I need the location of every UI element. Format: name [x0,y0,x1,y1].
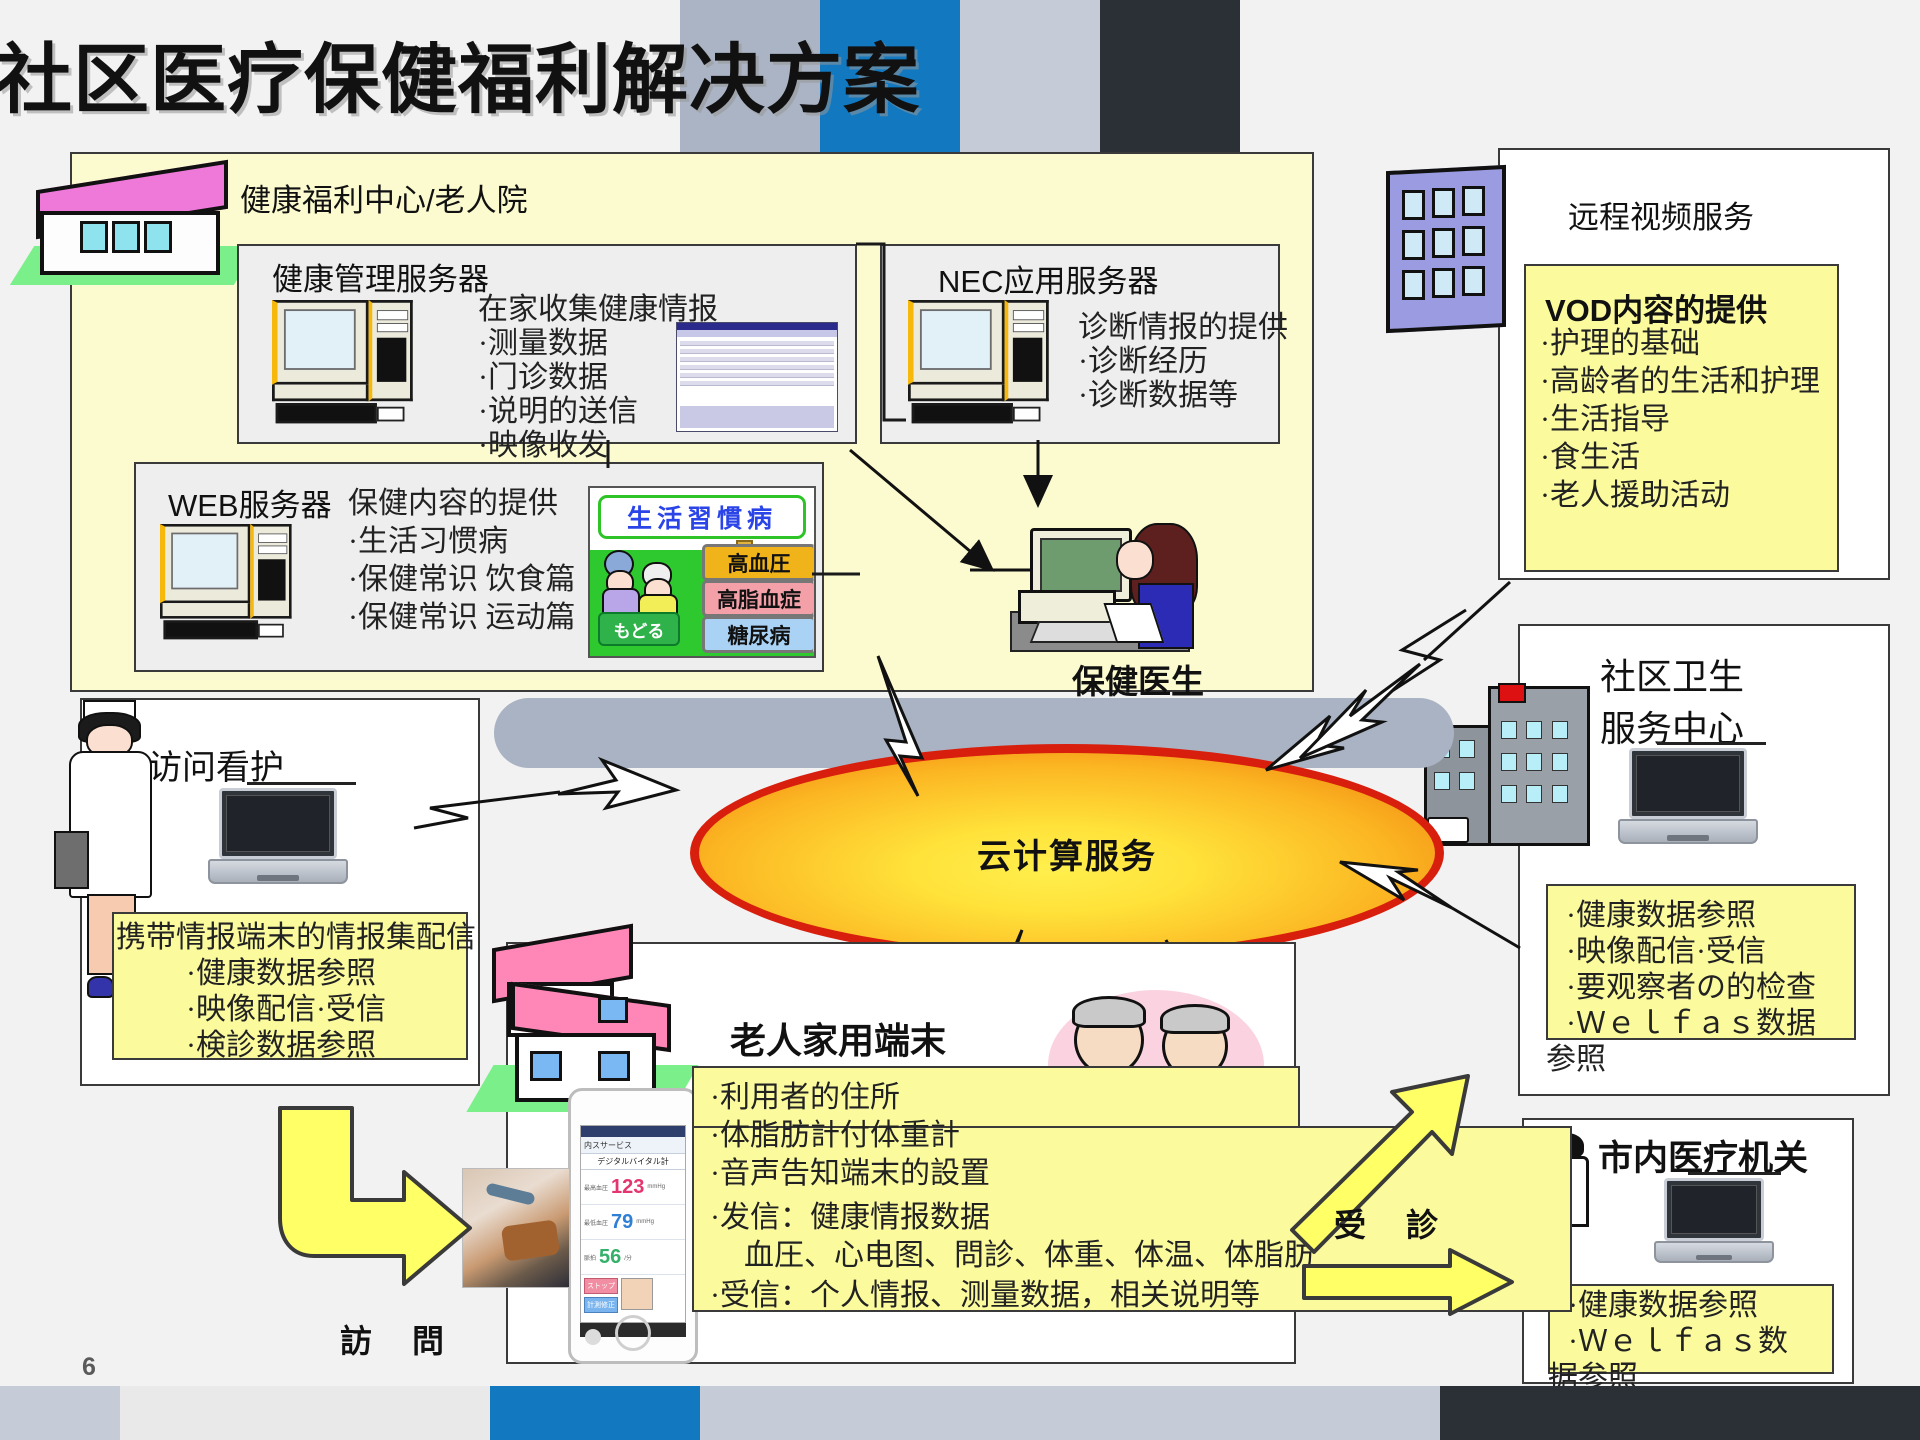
lifestyle-sign-1[interactable]: 高血圧 [702,544,816,581]
city-hospital-note-2: ·Ｗｅｌｆａｓ数 [1568,1324,1788,1361]
remote-video-title: 远程视频服务 [1568,192,1754,237]
lifestyle-caption: 生活習慣病 [598,495,806,539]
web-server-computer-icon [160,524,298,644]
community-note-2: ·映像配信·受信 [1566,934,1766,971]
visit-label: 訪 問 [340,1316,448,1362]
community-center-title-1: 社区卫生 [1600,648,1744,700]
vod-bullet-5: ·老人援助活动 [1540,478,1730,515]
device-reading-unit-1: mmHg [647,1184,665,1190]
community-hospital-icon [1424,686,1584,846]
vod-bullet-2: ·高龄者的生活和护理 [1540,364,1820,401]
health-server-bullet-1: ·测量数据 [478,326,608,363]
connector-health-to-web [600,440,620,470]
device-reading-row-2: 最低血圧 79 mmHg [581,1205,685,1240]
community-note-1: ·健康数据参照 [1566,898,1756,935]
nec-server-computer-icon [908,300,1055,429]
lifestyle-disease-screen[interactable]: 生活習慣病 高血圧 高脂血症 糖尿病 もどる [588,486,816,658]
cloud-label: 云计算服务 [977,829,1157,878]
device-menu-label[interactable]: デジタルバイタル計 [581,1154,685,1170]
home-terminal-device[interactable]: 内スサービス デジタルバイタル計 最高血圧 123 mmHg 最低血圧 79 m… [568,1088,698,1364]
bottom-bar-2 [120,1386,490,1440]
lifestyle-back-button[interactable]: もどる [598,612,680,646]
city-hospital-laptop-icon [1654,1178,1774,1270]
top-bar-dark [1100,0,1240,160]
page-number: 6 [82,1353,96,1382]
vod-bullet-1: ·护理的基础 [1540,326,1700,363]
visiting-nurse-bullet-2: ·映像配信·受信 [186,992,386,1029]
device-home-button[interactable] [615,1315,651,1351]
lifestyle-sign-3[interactable]: 糖尿病 [702,616,816,653]
health-server-bullet-3: ·说明的送信 [478,394,638,431]
vod-note-title: VOD内容的提供 [1545,285,1767,330]
health-server-bullet-2: ·门诊数据 [478,360,608,397]
device-status-bar [581,1126,685,1137]
vod-bullet-4: ·食生活 [1540,440,1640,477]
device-stop-button[interactable]: ストップ [584,1278,618,1294]
bottom-bar-1 [0,1386,120,1440]
device-speaker-icon [585,1329,601,1345]
device-reading-row-3: 脈拍 56 /分 [581,1240,685,1275]
device-correct-button[interactable]: 計測修正 [584,1297,618,1313]
web-server-bullet-2: ·保健常识 饮食篇 [348,562,576,599]
bottom-bar-4 [700,1386,1440,1440]
nec-server-title: NEC应用服务器 [938,256,1158,301]
device-reading-value-3: 56 [599,1246,621,1269]
web-server-lead: 保健内容的提供 [348,486,558,523]
page-title: 社区医疗保健福利解决方案 [0,18,920,128]
community-note-5: 参照 [1546,1042,1606,1079]
device-reading-label-2: 最低血圧 [584,1218,608,1227]
web-server-bullet-1: ·生活习惯病 [348,524,508,561]
remote-video-building-icon [1386,168,1506,330]
device-reading-value-1: 123 [611,1176,644,1199]
nec-server-lead: 诊断情报的提供 [1078,310,1288,347]
device-reading-unit-3: /分 [624,1253,632,1262]
consult-label: 受 診 [1334,1200,1442,1246]
lifestyle-sign-2[interactable]: 高脂血症 [702,580,816,617]
device-reading-label-3: 脈拍 [584,1253,596,1262]
visit-arrow [252,1100,512,1300]
home-terminal-receive-label: ·受信：个人情报、测量数据，相关说明等 [710,1278,1260,1315]
slide-root: 社区医疗保健福利解决方案 健康福利中心/老人院 健康管理服务器 在家收集健康情报… [0,0,1920,1440]
device-reading-value-2: 79 [611,1211,633,1234]
community-center-laptop-icon [1618,748,1758,852]
home-terminal-title: 老人家用端末 [730,1012,946,1064]
welfare-center-title: 健康福利中心/老人院 [240,175,528,220]
bottom-bar-3 [490,1386,700,1440]
device-user-photo [621,1278,653,1310]
city-hospital-note-1: ·健康数据参照 [1568,1288,1758,1325]
home-terminal-send-label: ·发信：健康情报数据 [710,1200,990,1237]
top-bar-light [960,0,1100,160]
top-bar-white [1240,0,1920,160]
visiting-nurse-bullet-1: ·健康数据参照 [186,956,376,993]
cloud-computing-service: 云计算服务 [690,744,1444,962]
community-note-4: ·Ｗｅｌｆａｓ数据 [1566,1006,1816,1043]
device-reading-unit-2: mmHg [636,1219,654,1225]
vod-bullet-3: ·生活指导 [1540,402,1670,439]
arrow-nec-to-doctor [1024,450,1064,520]
health-server-title: 健康管理服务器 [272,254,489,299]
home-terminal-send-detail: 血圧、心电图、問診、体重、体温、体脂肪 [744,1238,1314,1275]
visiting-nurse-laptop-icon [208,788,348,892]
consult-arrow-right [1300,1250,1530,1330]
health-doctor-icon [1010,520,1210,660]
web-server-bullet-3: ·保健常识 运动篇 [348,600,576,637]
health-server-bullet-4: ·映像收发 [478,428,608,465]
visiting-nurse-note-title: 携带情报端末的情报集配信 [116,920,476,957]
device-button-row: ストップ 計測修正 [581,1275,685,1316]
device-reading-label-1: 最高血圧 [584,1183,608,1192]
health-server-screenshot-thumbnail [676,322,838,432]
home-terminal-bullet-2: ·体脂肪計付体重計 [710,1118,960,1155]
welfare-building-icon [28,170,228,285]
home-terminal-bullet-3: ·音声告知端末的設置 [710,1156,990,1193]
home-terminal-bullet-1: ·利用者的住所 [710,1080,900,1117]
device-service-label: 内スサービス [581,1137,685,1154]
nec-server-bullet-2: ·诊断数据等 [1078,378,1238,415]
bottom-bar-5 [1440,1386,1920,1440]
health-server-computer-icon [272,300,419,429]
community-note-3: ·要观察者の的检查 [1566,970,1816,1007]
visiting-nurse-bullet-3: ·検診数据参照 [186,1028,376,1065]
web-server-title: WEB服务器 [168,480,332,525]
connector-health-to-nec [850,240,910,460]
nec-server-bullet-1: ·诊断经历 [1078,344,1208,381]
home-house-icon [488,932,678,1112]
device-reading-row-1: 最高血圧 123 mmHg [581,1170,685,1205]
health-doctor-label: 保健医生 [1072,655,1204,703]
